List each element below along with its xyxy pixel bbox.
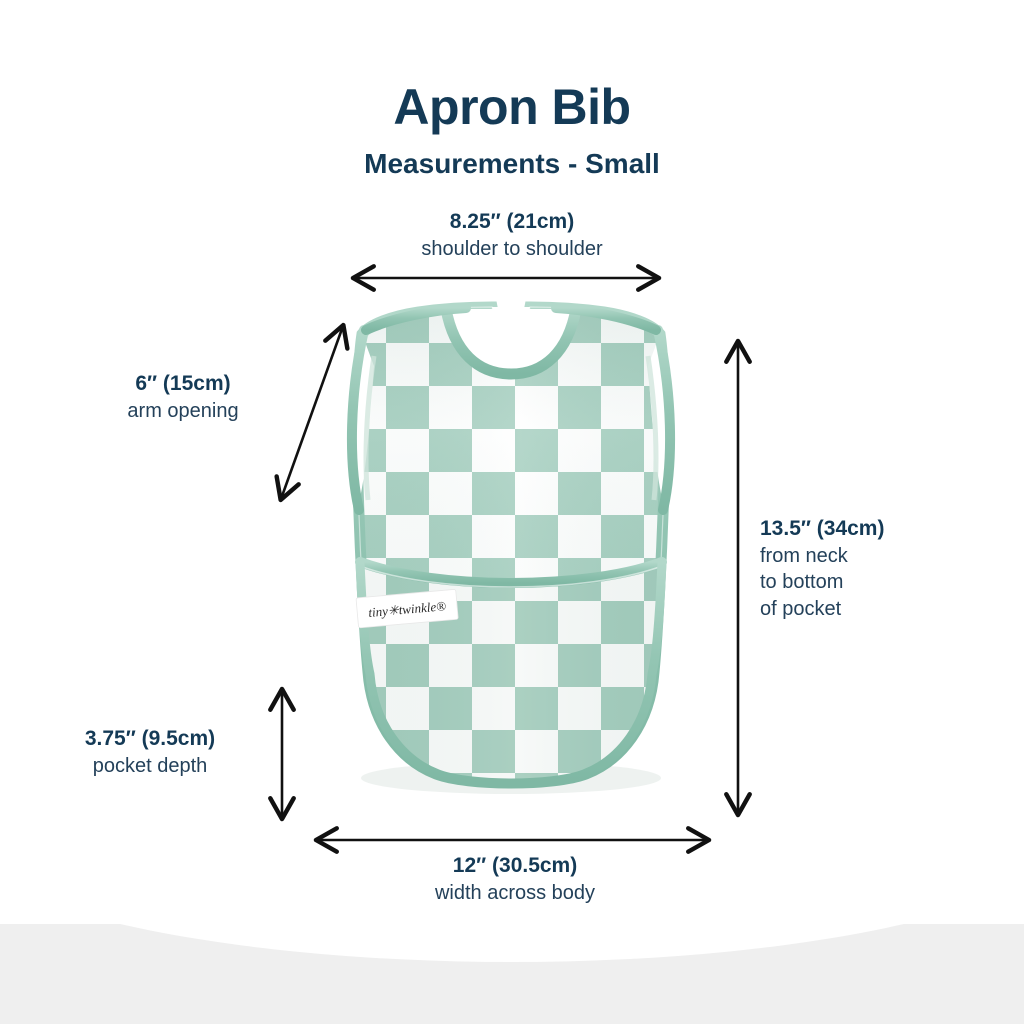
label-width-across-body: 12″ (30.5cm) width across body (260, 852, 770, 906)
measure-desc-width: width across body (260, 880, 770, 906)
label-arm-opening: 6″ (15cm) arm opening (58, 370, 308, 424)
measure-value-pocket: 3.75″ (9.5cm) (30, 725, 270, 753)
measure-desc-neck-line3: of pocket (760, 596, 990, 622)
measure-value-neck: 13.5″ (34cm) (760, 515, 990, 543)
measure-desc-neck-line1: from neck (760, 543, 990, 569)
measure-value-arm: 6″ (15cm) (58, 370, 308, 398)
page-title: Apron Bib (0, 78, 1024, 136)
label-shoulder-to-shoulder: 8.25″ (21cm) shoulder to shoulder (0, 208, 1024, 262)
page-subtitle: Measurements - Small (0, 148, 1024, 180)
measure-value-width: 12″ (30.5cm) (260, 852, 770, 880)
measure-desc-pocket: pocket depth (30, 753, 270, 779)
measurement-diagram: Apron Bib Measurements - Small 8.25″ (21… (0, 0, 1024, 1024)
measure-desc-shoulder: shoulder to shoulder (0, 236, 1024, 262)
measure-desc-neck-line2: to bottom (760, 569, 990, 595)
measure-value-shoulder: 8.25″ (21cm) (0, 208, 1024, 236)
label-pocket-depth: 3.75″ (9.5cm) pocket depth (30, 725, 270, 779)
measure-desc-arm: arm opening (58, 398, 308, 424)
product-illustration: tiny✳twinkle® (296, 300, 726, 830)
label-neck-to-pocket: 13.5″ (34cm) from neck to bottom of pock… (760, 515, 990, 622)
